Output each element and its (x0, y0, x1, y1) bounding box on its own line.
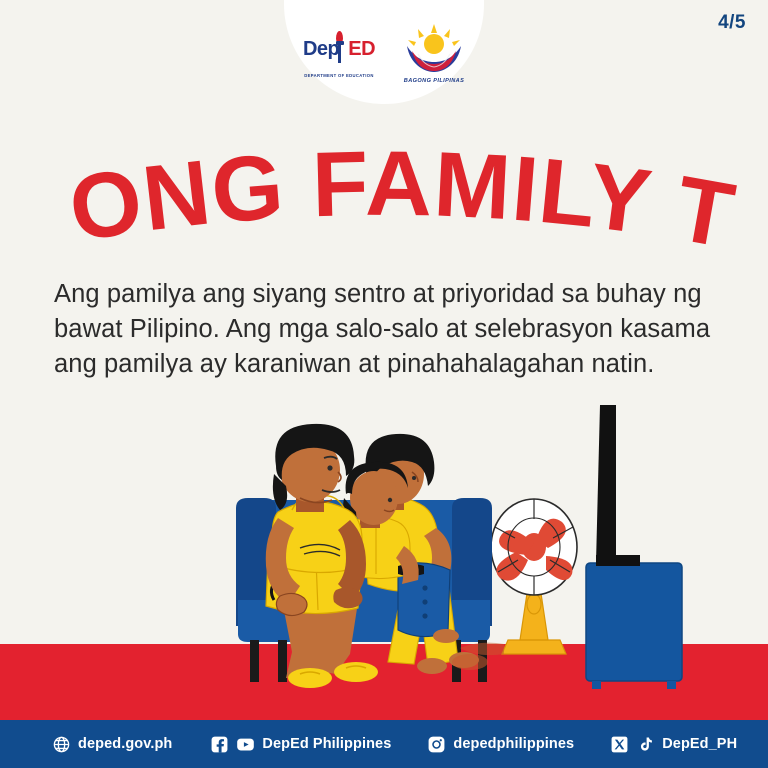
footer-label-instagram: depedphilippines (453, 736, 574, 752)
logo-row: DepED DEPARTMENT OF EDUCATION (284, 18, 484, 92)
body-paragraph: Ang pamilya ang siyang sentro at priyori… (54, 277, 714, 383)
bagong-pilipinas-logo: BAGONG PILIPINAS (397, 24, 471, 86)
page-counter: 4/5 (718, 12, 746, 34)
tiktok-icon (636, 735, 655, 754)
deped-word-ed: ED (348, 38, 375, 60)
bagong-pilipinas-seal-icon (404, 24, 464, 72)
instagram-icon (427, 735, 446, 754)
footer-bar: deped.gov.ph DepEd Philippines (0, 720, 768, 768)
footer-label-x-tiktok: DepEd_PH (662, 736, 737, 752)
deped-subtitle: DEPARTMENT OF EDUCATION (297, 73, 381, 78)
page-title: STRONG FAMILY TIES (0, 150, 768, 260)
youtube-icon (236, 735, 255, 754)
torch-icon (335, 31, 344, 65)
headline-text: STRONG FAMILY TIES (0, 150, 742, 260)
child-figure (340, 462, 459, 643)
deped-logo: DepED DEPARTMENT OF EDUCATION (297, 31, 381, 79)
facebook-icon (210, 735, 229, 754)
father-figure (266, 424, 366, 680)
mother-figure (360, 434, 479, 674)
blue-sofa (243, 500, 477, 618)
footer-item-website[interactable]: deped.gov.ph (52, 735, 172, 754)
floor-band (0, 644, 768, 720)
bagong-pilipinas-label: BAGONG PILIPINAS (397, 78, 471, 84)
deped-word-dep: Dep (303, 38, 339, 60)
electric-fan (491, 499, 577, 654)
footer-label-website: deped.gov.ph (78, 736, 172, 752)
globe-icon (52, 735, 71, 754)
poster-canvas: DepED DEPARTMENT OF EDUCATION (0, 0, 768, 768)
footer-label-facebook-youtube: DepEd Philippines (262, 736, 391, 752)
x-twitter-icon (610, 735, 629, 754)
flat-screen-tv (596, 405, 616, 563)
footer-item-x-tiktok[interactable]: DepEd_PH (610, 735, 737, 754)
footer-item-instagram[interactable]: depedphilippines (427, 735, 574, 754)
footer-item-facebook-youtube[interactable]: DepEd Philippines (210, 735, 391, 754)
